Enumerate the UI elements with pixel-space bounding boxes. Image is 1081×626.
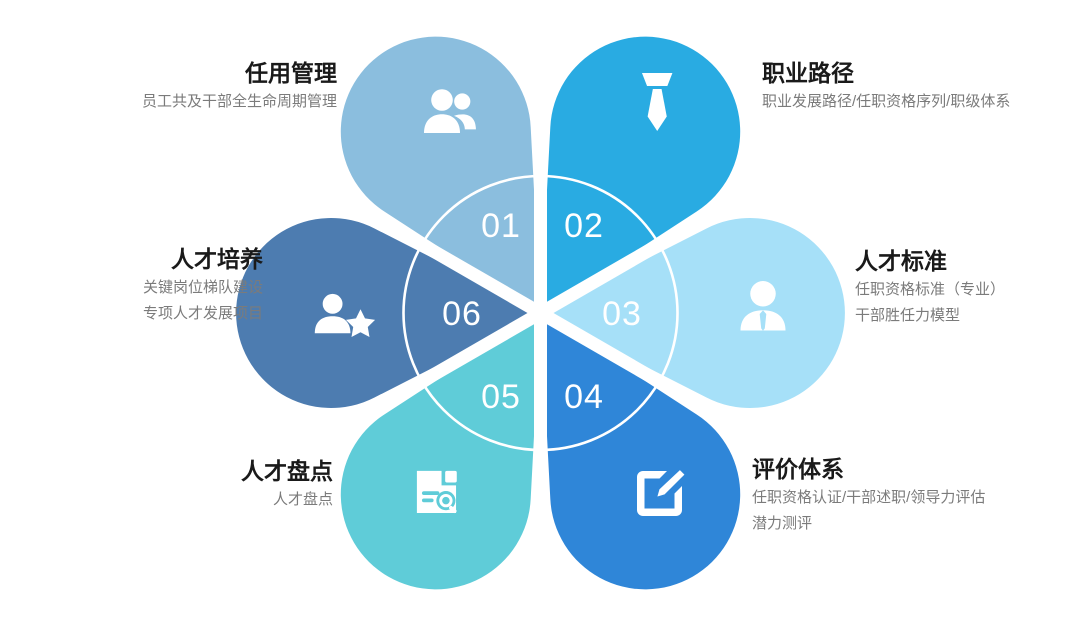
petal-label-02: 职业路径 职业发展路径/任职资格序列/职级体系 xyxy=(762,58,1010,115)
petal-label-03: 人才标准 任职资格标准（专业） 干部胜任力模型 xyxy=(855,246,1005,330)
petal-label-04: 评价体系 任职资格认证/干部述职/领导力评估 潜力测评 xyxy=(752,454,985,538)
petal-subtitle-01-line-1: 员工共及干部全生命周期管理 xyxy=(142,89,337,115)
petal-subtitle-02-line-1: 职业发展路径/任职资格序列/职级体系 xyxy=(762,89,1010,115)
document-search-icon xyxy=(417,471,457,514)
petal-title-02: 职业路径 xyxy=(762,58,1010,89)
petal-number-03: 03 xyxy=(602,295,642,333)
petal-number-06: 06 xyxy=(442,295,482,333)
petal-title-01: 任用管理 xyxy=(142,58,337,89)
petal-title-05: 人才盘点 xyxy=(241,456,333,487)
petal-diagram: 01 02 03 04 05 06 任用管理 员工共及干部全生命周期管理 职业路… xyxy=(0,0,1081,626)
petal-label-05: 人才盘点 人才盘点 xyxy=(241,456,333,513)
petal-number-02: 02 xyxy=(564,207,604,245)
petal-number-05: 05 xyxy=(481,378,521,416)
petal-subtitle-03-line-1: 任职资格标准（专业） xyxy=(855,277,1005,303)
petal-label-01: 任用管理 员工共及干部全生命周期管理 xyxy=(142,58,337,115)
petal-subtitle-06-line-2: 专项人才发展项目 xyxy=(143,301,263,327)
petal-subtitle-03-line-2: 干部胜任力模型 xyxy=(855,303,1005,329)
petal-subtitle-05-line-1: 人才盘点 xyxy=(241,487,333,513)
petal-title-03: 人才标准 xyxy=(855,246,1005,277)
petal-number-04: 04 xyxy=(564,378,604,416)
edit-square-icon xyxy=(637,470,684,516)
petal-label-06: 人才培养 关键岗位梯队建设 专项人才发展项目 xyxy=(143,244,263,328)
petal-04-icon-wrap xyxy=(637,470,684,516)
petal-05-icon-wrap xyxy=(417,471,457,514)
petal-number-01: 01 xyxy=(481,207,521,245)
petal-subtitle-06-line-1: 关键岗位梯队建设 xyxy=(143,275,263,301)
petal-subtitle-04-line-2: 潜力测评 xyxy=(752,511,985,537)
petal-title-06: 人才培养 xyxy=(143,244,263,275)
petal-title-04: 评价体系 xyxy=(752,454,985,485)
petal-subtitle-04-line-1: 任职资格认证/干部述职/领导力评估 xyxy=(752,485,985,511)
